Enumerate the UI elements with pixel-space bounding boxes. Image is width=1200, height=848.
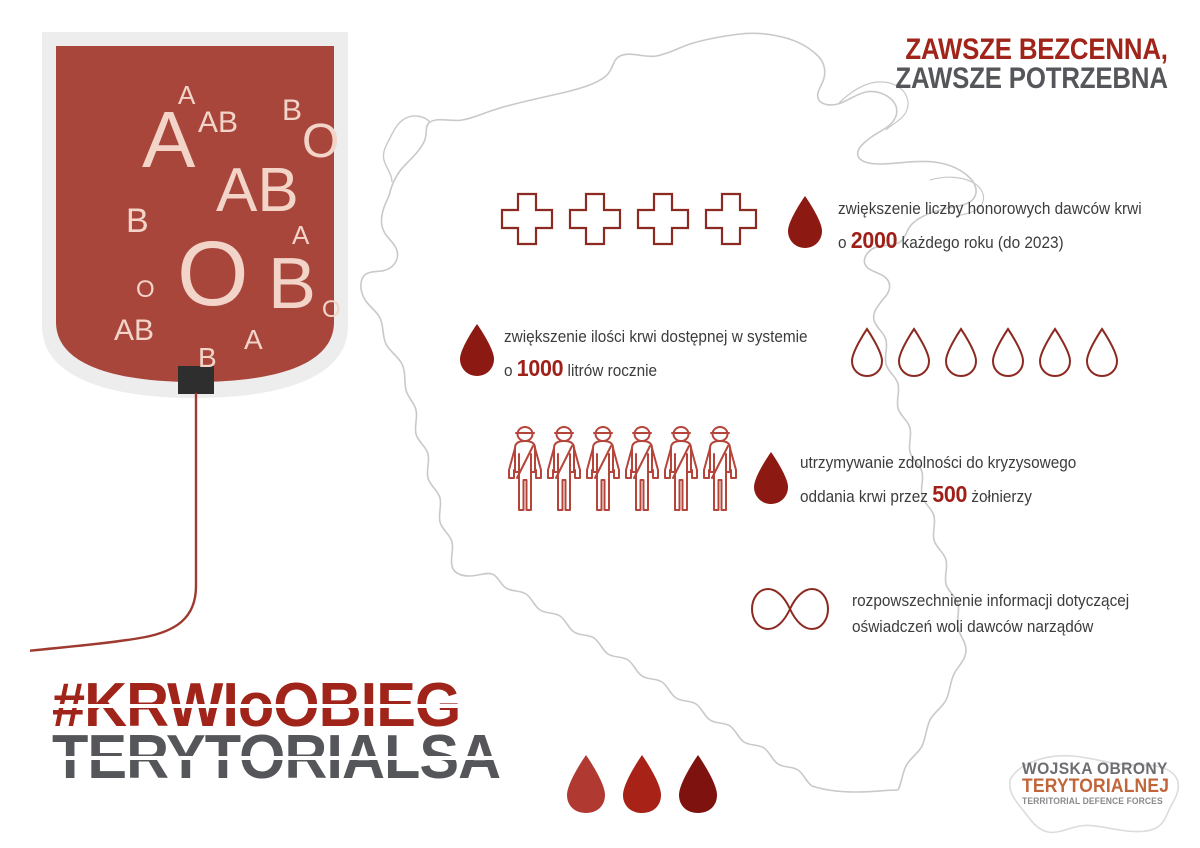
stat-soldiers-number: 500 (932, 481, 967, 507)
blood-drop-filled-icon (674, 752, 722, 816)
medical-cross-icon (566, 190, 624, 248)
blood-type-letter: B (126, 204, 149, 238)
soldier-row (506, 424, 739, 516)
stat-donors-line-2: o 2000 każdego roku (do 2023) (838, 222, 1142, 258)
stat-donors-text: zwiększenie liczby honorowych dawców krw… (838, 196, 1142, 258)
stat-organ-line-2: oświadczeń woli dawców narządów (852, 614, 1129, 640)
blood-drop-filled-icon (618, 752, 666, 816)
filled-blood-drop-icon (784, 194, 826, 255)
blood-type-letter: A (244, 326, 263, 354)
headline-line-1: ZAWSZE BEZCENNA, (896, 36, 1168, 65)
blood-type-letter: B (198, 344, 217, 372)
blood-type-letter: A (178, 82, 195, 108)
infographic-page: AAABBOABBAOBOOABAB ZAWSZE BEZCENNA, ZAWS… (0, 0, 1200, 848)
blood-bag: AAABBOABBAOBOOABAB (30, 26, 390, 671)
blood-drop-outline-icon (942, 326, 980, 378)
blood-type-letter: A (142, 100, 195, 180)
medical-cross-icon (634, 190, 692, 248)
medical-cross-row (498, 190, 760, 248)
blood-type-letter: O (322, 298, 341, 322)
blood-drop-outline-icon (848, 326, 886, 378)
blood-drop-outline-icon (895, 326, 933, 378)
blood-type-letter: AB (198, 108, 238, 138)
blood-drop-trio (562, 752, 722, 816)
stat-donors-number: 2000 (851, 227, 897, 253)
soldier-icon (701, 424, 739, 516)
soldier-icon (584, 424, 622, 516)
outline-drop-row (848, 326, 1121, 378)
stat-volume-text: zwiększenie ilości krwi dostępnej w syst… (504, 324, 808, 386)
blood-type-letter: B (282, 96, 302, 126)
blood-type-letter: AB (216, 160, 299, 222)
soldier-icon (623, 424, 661, 516)
filled-blood-drop-icon (456, 322, 498, 383)
blood-type-letter: B (268, 248, 316, 320)
wot-line-2: TERYTORIALNEJ (1022, 777, 1169, 796)
medical-cross-icon (498, 190, 556, 248)
blood-type-letter: O (136, 278, 155, 302)
blood-type-letter: O (302, 118, 339, 166)
stat-volume-number: 1000 (517, 355, 563, 381)
blood-type-letter: O (177, 228, 249, 320)
blood-drop-filled-icon (562, 752, 610, 816)
stat-donors-line-1: zwiększenie liczby honorowych dawców krw… (838, 196, 1142, 222)
stat-soldiers-line-2: oddania krwi przez 500 żołnierzy (800, 476, 1076, 512)
filled-blood-drop-icon (750, 450, 792, 511)
medical-cross-icon (702, 190, 760, 248)
infinity-icon (748, 582, 832, 641)
campaign-logo: #KRWIoOBIEG TERYTORIALSA (52, 680, 519, 784)
stat-soldiers-line-1: utrzymywanie zdolności do kryzysowego (800, 450, 1076, 476)
headline: ZAWSZE BEZCENNA, ZAWSZE POTRZEBNA (851, 36, 1168, 94)
blood-drop-outline-icon (1036, 326, 1074, 378)
soldier-icon (545, 424, 583, 516)
stat-organ-line-1: rozpowszechnienie informacji dotyczącej (852, 588, 1129, 614)
stat-volume-line-1: zwiększenie ilości krwi dostępnej w syst… (504, 324, 808, 350)
blood-drop-outline-icon (1083, 326, 1121, 378)
wot-logo: WOJSKA OBRONY TERYTORIALNEJ TERRITORIAL … (992, 742, 1192, 840)
soldier-icon (506, 424, 544, 516)
wot-line-3: TERRITORIAL DEFENCE FORCES (1022, 797, 1166, 807)
campaign-logo-line-2: TERYTORIALSA (52, 732, 500, 784)
soldier-icon (662, 424, 700, 516)
blood-drop-outline-icon (989, 326, 1027, 378)
blood-type-letter: AB (114, 316, 154, 346)
stat-soldiers-text: utrzymywanie zdolności do kryzysowego od… (800, 450, 1076, 512)
wot-line-1: WOJSKA OBRONY (1022, 760, 1169, 777)
stat-volume-line-2: o 1000 litrów rocznie (504, 350, 808, 386)
stat-organ-text: rozpowszechnienie informacji dotyczącej … (852, 588, 1129, 640)
headline-line-2: ZAWSZE POTRZEBNA (896, 65, 1168, 94)
wot-logo-text: WOJSKA OBRONY TERYTORIALNEJ TERRITORIAL … (1022, 760, 1182, 807)
